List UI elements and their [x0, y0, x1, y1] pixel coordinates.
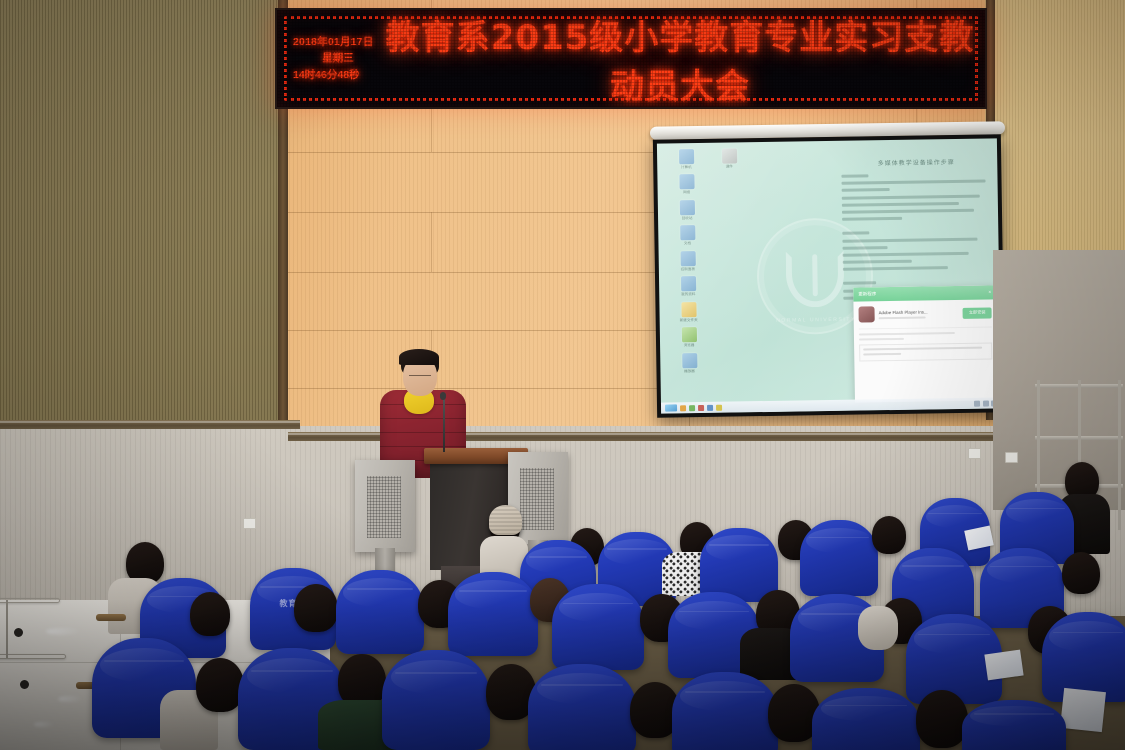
desktop-icon-browser[interactable]: 浏览器: [667, 327, 711, 348]
recycle-bin-icon: [679, 200, 694, 215]
windows-taskbar[interactable]: [661, 397, 1001, 413]
taskbar-icon-4[interactable]: [707, 404, 713, 410]
chair: [336, 570, 424, 654]
chair: [1042, 612, 1125, 702]
glasses-icon: [409, 375, 431, 380]
flash-player-icon: [858, 306, 874, 322]
my-files-icon: [680, 277, 695, 292]
audience-beanie-hat: [489, 505, 522, 535]
documents-icon: [680, 226, 695, 241]
led-banner: 2018年01月17日 星期三 14时46分48秒 教育系2015级小学教育专业…: [275, 8, 987, 109]
audience-head: [196, 658, 244, 712]
chair: [800, 520, 878, 596]
cart-caster-2: [20, 680, 29, 689]
desktop-icon-recycle-bin[interactable]: 回收站: [665, 200, 709, 221]
audience-head: [1062, 552, 1100, 594]
chair: [382, 650, 490, 750]
desktop-icon-column: 计算机 网络 回收站 文档 控制面板: [664, 149, 714, 379]
folder-icon: [681, 302, 696, 317]
desktop-icon-documents[interactable]: 文档: [665, 225, 709, 246]
tray-icon-2[interactable]: [982, 400, 988, 406]
dialog-title: 更新程序: [858, 291, 876, 297]
wall-socket-right: [968, 448, 981, 459]
cart-rail-lower: [0, 654, 66, 659]
projection-screen: NORMAL UNIVERSITY 计算机 网络 回收站 文档: [653, 134, 1005, 417]
courseware-icon: [721, 148, 736, 163]
cart-caster-1: [14, 628, 23, 637]
install-button[interactable]: 立即安装: [963, 307, 992, 318]
chair: [528, 664, 636, 750]
network-icon: [679, 175, 694, 190]
media-player-icon: [682, 353, 697, 368]
document-title: 多媒体教学设备操作步骤: [841, 156, 991, 167]
presenter-hair-top: [399, 349, 439, 365]
chair: [700, 528, 778, 602]
chair: [672, 672, 778, 750]
chair: [448, 572, 538, 656]
wall-socket-right-2: [1005, 452, 1018, 463]
microphone-stand: [443, 396, 445, 452]
dialog-note: [859, 342, 992, 361]
left-wall: [0, 0, 300, 470]
audience-scarf: [858, 606, 898, 650]
microphone-icon: [440, 392, 446, 400]
wall-socket-left: [243, 518, 256, 529]
auditorium-scene: 2018年01月17日 星期三 14时46分48秒 教育系2015级小学教育专业…: [0, 0, 1125, 750]
desktop-icon-player[interactable]: 播放器: [667, 353, 711, 374]
desktop-icon-control-panel[interactable]: 控制面板: [666, 251, 710, 272]
audience-head: [294, 584, 338, 632]
audience-head: [872, 516, 906, 554]
cart-rail-upper: [0, 598, 60, 603]
led-meeting-title: 教育系2015级小学教育专业实习支教动员大会: [383, 10, 985, 108]
desktop-icon-new-folder[interactable]: 新建文件夹: [666, 302, 710, 323]
handout-paper: [1060, 688, 1106, 732]
led-time: 14时46分48秒: [293, 67, 383, 83]
desktop-icon-network[interactable]: 网络: [664, 174, 708, 195]
loudspeaker-left: [355, 460, 415, 552]
taskbar-icon-1[interactable]: [680, 405, 686, 411]
chair: [962, 700, 1066, 750]
desktop-icon-column-2: 课件: [707, 148, 753, 174]
desktop-icon-computer[interactable]: 计算机: [664, 149, 708, 170]
desktop-icon-my-files[interactable]: 我的资料: [666, 276, 710, 297]
flash-player-update-dialog[interactable]: 更新程序 × Adobe Flash Player Ins... 立即安装: [853, 285, 998, 402]
close-icon[interactable]: ×: [988, 289, 991, 295]
led-weekday: 星期三: [293, 50, 383, 66]
tray-icon-1[interactable]: [974, 400, 980, 406]
computer-icon: [678, 149, 693, 164]
handout-paper: [984, 650, 1023, 681]
audience-head: [190, 592, 230, 636]
chair-armrest: [96, 614, 126, 621]
browser-icon: [681, 327, 696, 342]
logo-arc-text: NORMAL UNIVERSITY: [776, 317, 856, 324]
led-datetime-block: 2018年01月17日 星期三 14时46分48秒: [293, 34, 383, 83]
audience-head: [916, 690, 968, 748]
desktop-icon-courseware[interactable]: 课件: [707, 148, 751, 169]
taskbar-icon-3[interactable]: [698, 404, 704, 410]
taskbar-icon-5[interactable]: [716, 404, 722, 410]
instruction-document: 多媒体教学设备操作步骤: [841, 156, 993, 303]
dialog-app-name: Adobe Flash Player Ins...: [879, 308, 959, 314]
led-date: 2018年01月17日: [293, 34, 383, 50]
chair: [812, 688, 920, 750]
start-button-icon[interactable]: [665, 404, 677, 411]
control-panel-icon: [680, 251, 695, 266]
taskbar-icon-2[interactable]: [689, 405, 695, 411]
chair: [552, 584, 644, 670]
